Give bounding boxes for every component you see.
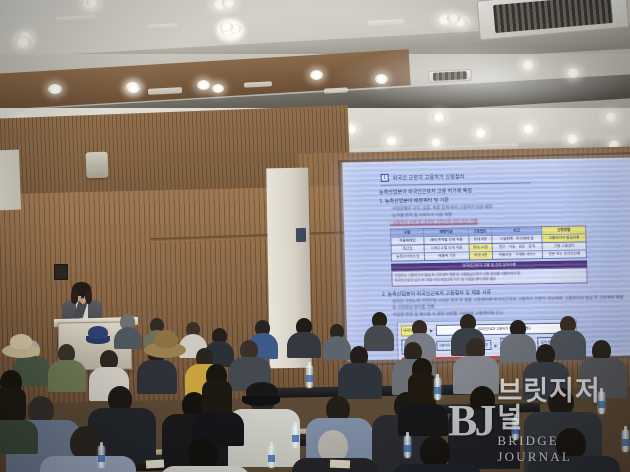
table-cell: 작물보호 · 기계화 서비스 [492, 251, 543, 260]
water-bottle [404, 436, 411, 458]
person-torso [137, 360, 177, 394]
downlight [385, 136, 398, 146]
downlight [604, 112, 618, 122]
table-cell: 농축산서비스업 [391, 253, 424, 262]
wall-speaker-icon [86, 152, 109, 179]
downlight [220, 22, 233, 32]
slide-table: 구분 배정기준 고용한도 비고 신청방법 작물재배업 재배 면적별 단계 적용 … [390, 225, 587, 261]
downlight [212, 84, 224, 93]
watermark-english-name: BRIDGE JOURNAL [497, 433, 624, 465]
table-cell: 방문 또는 온라인신청 [542, 250, 586, 259]
watermark-logo-mark: BJ [448, 402, 493, 439]
downlight [127, 84, 140, 93]
downlight [197, 80, 210, 90]
ac-grille-icon [493, 0, 613, 33]
water-bottle [98, 446, 105, 468]
table-cell: 최대 5명 [469, 251, 492, 259]
person-torso [500, 334, 536, 362]
watermark-text: 브릿지저널 BRIDGE JOURNAL [497, 378, 624, 465]
person-torso [287, 332, 321, 358]
downlight [566, 134, 579, 144]
water-bottle [434, 378, 441, 400]
downlight [375, 74, 388, 84]
door-sign-icon [296, 228, 306, 242]
person-torso [323, 336, 351, 360]
person-torso [114, 327, 142, 349]
slide-note-box: 사업주는 고용허가서 발급 후 근로계약 체결 및 사증발급인정서 신청 절차를… [391, 267, 587, 287]
downlight [432, 112, 446, 122]
downlight [48, 84, 62, 94]
wall-switch-panel [54, 264, 68, 280]
person-torso [160, 466, 250, 472]
slide-title-rule [381, 182, 531, 186]
downlight [310, 70, 323, 80]
downlight [566, 68, 580, 78]
note-paper [146, 460, 164, 469]
baseball-cap [88, 326, 108, 339]
water-bottle [306, 366, 313, 388]
note-paper [330, 460, 350, 469]
person-torso [392, 464, 482, 472]
person-torso [550, 330, 586, 360]
downlight [521, 60, 535, 70]
downlight [447, 14, 460, 23]
downlight [522, 124, 535, 134]
ac-grille-icon [433, 72, 467, 81]
downlight [15, 36, 31, 48]
watermark: BJ 브릿지저널 BRIDGE JOURNAL [448, 392, 624, 450]
conference-photo: 1 외국인 근로자 고용허가 신청절차 농축산업분야 외국인근로자 고용 허가제… [0, 0, 630, 472]
slide-title: 외국인 근로자 고용허가 신청절차 [393, 173, 465, 181]
table-cell: 매출액 기준 [424, 252, 469, 261]
sun-hat [10, 334, 32, 349]
person-torso [48, 360, 86, 392]
water-bottle [268, 446, 275, 468]
ac-cassette-unit [428, 69, 473, 83]
slide-title-number: 1 [381, 174, 389, 182]
bucket-hat [154, 330, 178, 348]
water-bottle [292, 426, 299, 448]
downlight [430, 138, 442, 147]
watermark-korean-name: 브릿지저널 [497, 378, 624, 432]
cream-wall-left [0, 150, 21, 211]
person-torso [364, 325, 394, 351]
person-torso [338, 363, 382, 399]
downlight [474, 128, 487, 138]
cap-brim [242, 396, 280, 406]
person-torso [40, 456, 136, 472]
slide-title-row: 1 외국인 근로자 고용허가 신청절차 [381, 170, 623, 182]
person-torso [0, 420, 38, 454]
